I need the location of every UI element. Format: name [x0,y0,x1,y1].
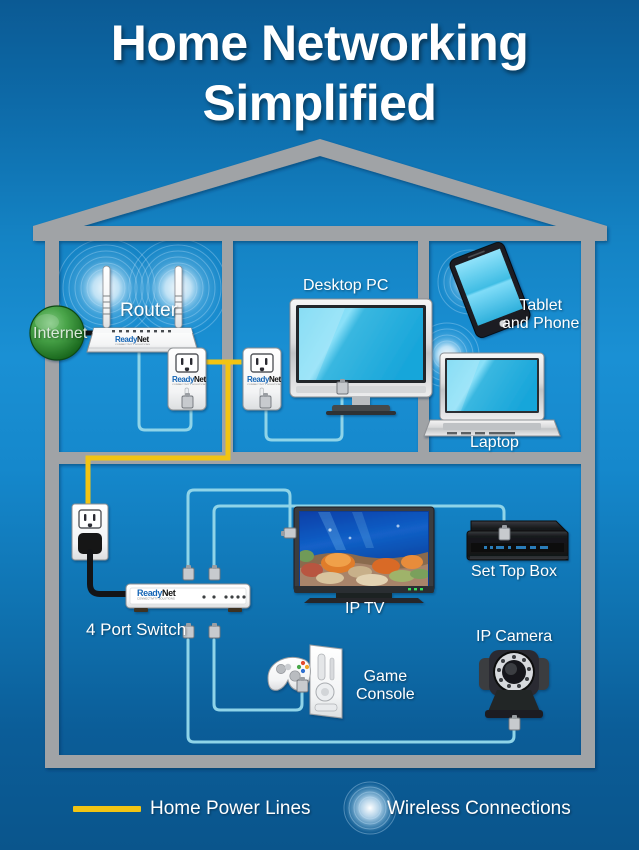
readynet-logo-router: ReadyNet CONNECTIVITY SOLUTIONS [115,336,150,347]
set-top-box-label: Set Top Box [471,563,557,581]
game-console-label-line1: Game [364,668,408,685]
power-line-floor-run [88,458,228,504]
switch-label: 4 Port Switch [86,620,186,640]
brand-tagline: CONNECTIVITY SOLUTIONS [172,384,207,386]
readynet-logo-adapter-2: ReadyNet CONNECTIVITY SOLUTIONS [247,376,282,387]
brand-tagline: CONNECTIVITY SOLUTIONS [115,344,150,346]
iptv-label: IP TV [345,600,384,618]
laptop-device [424,353,560,436]
ip-camera-label: IP Camera [476,628,552,646]
desktop-pc-label: Desktop PC [303,277,388,295]
legend-swatch-power [73,806,141,812]
rj45-plug-switch-up-1 [183,565,194,580]
cable-switch-to-iptv [188,490,290,568]
tv-led-indicator [408,588,423,590]
router-antenna-left [103,266,110,328]
cable-switch-to-camera [188,640,514,742]
set-top-box-device [467,521,568,560]
tablet-phone-label-line1: Tablet [519,297,562,314]
game-console-label: Game Console [356,668,415,705]
iptv-device [294,507,434,603]
router-label: Router [120,300,177,322]
legend-label-wireless: Wireless Connections [387,798,571,820]
infographic-canvas: Home Networking Simplified [0,0,639,850]
rj45-plug-switch-up-2 [209,565,220,580]
rj45-plug-iptv [281,528,296,538]
readynet-logo-adapter-1: ReadyNet CONNECTIVITY SOLUTIONS [172,376,207,387]
ip-camera-device [479,650,549,718]
router-led-row [112,330,171,332]
brand-tagline: CONNECTIVITY SOLUTIONS [247,384,282,386]
power-line-group [88,362,239,504]
game-console-label-line2: Console [356,686,415,703]
diagram-illustration [0,0,639,850]
internet-label: Internet [33,325,87,343]
brand-tagline: CONNECTIVITY SOLUTIONS [137,598,175,600]
tablet-phone-label-line2: and Phone [502,315,579,332]
laptop-label: Laptop [470,434,519,452]
tablet-phone-label: Tablet and Phone [502,297,579,334]
legend-label-power-lines: Home Power Lines [150,798,311,820]
desktop-pc-device [290,299,432,415]
readynet-logo-switch: ReadyNet CONNECTIVITY SOLUTIONS [137,589,175,601]
rj45-plug-switch-down-2 [209,623,220,638]
